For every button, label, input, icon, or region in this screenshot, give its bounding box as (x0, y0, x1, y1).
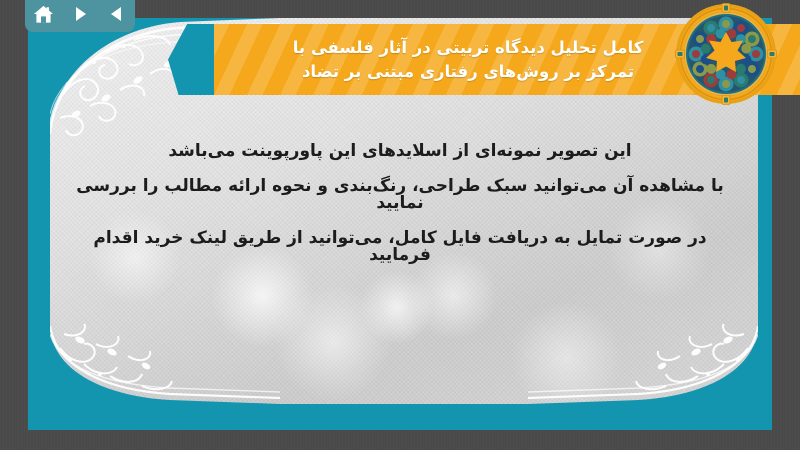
slide-body-text: این تصویر نمونه‌ای از اسلایدهای این پاور… (68, 143, 732, 264)
body-line-3: در صورت تمایل به دریافت فایل کامل، می‌تو… (68, 230, 732, 264)
triangle-left-icon (107, 4, 127, 24)
page-title: کامل تحلیل دیدگاه تربیتی در آثار فلسفی ب… (293, 36, 644, 83)
body-line-2: با مشاهده آن می‌توانید سبک طراحی، رنگ‌بن… (68, 178, 732, 212)
home-icon (33, 4, 54, 25)
previous-slide-button[interactable] (104, 1, 130, 27)
triangle-right-icon (70, 4, 90, 24)
title-banner: کامل تحلیل دیدگاه تربیتی در آثار فلسفی ب… (168, 0, 800, 95)
slide-preview-window: این تصویر نمونه‌ای از اسلایدهای این پاور… (0, 0, 800, 450)
body-line-1: این تصویر نمونه‌ای از اسلایدهای این پاور… (68, 143, 732, 160)
ornamental-medallion (674, 2, 778, 106)
home-button[interactable] (30, 1, 56, 27)
slide-navigation-bar (25, 0, 135, 32)
next-slide-button[interactable] (67, 1, 93, 27)
banner-arrow-shape (168, 24, 216, 95)
